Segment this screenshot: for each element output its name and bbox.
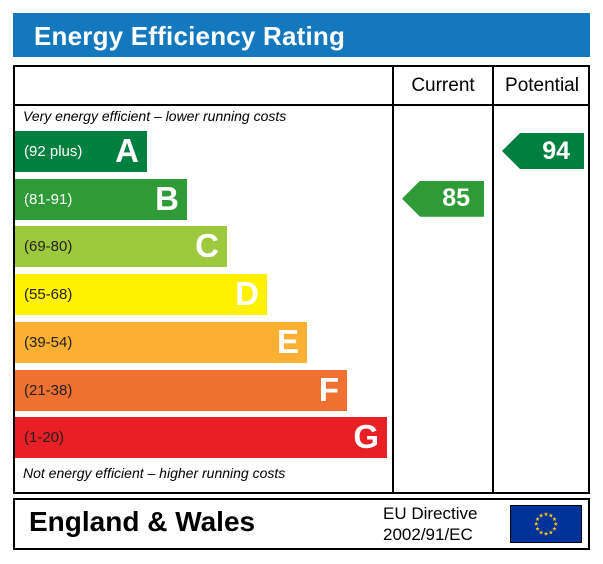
band-letter-f: F xyxy=(319,370,339,411)
caption-very-efficient: Very energy efficient – lower running co… xyxy=(23,108,286,124)
potential-rating-arrow: 94 xyxy=(502,133,584,169)
band-letter-c: C xyxy=(195,226,219,267)
title-bar: Energy Efficiency Rating xyxy=(13,13,590,57)
eu-star xyxy=(539,530,543,534)
current-rating-value: 85 xyxy=(442,184,470,213)
column-header-current: Current xyxy=(394,73,492,99)
band-row-c: (69-80)C xyxy=(15,226,227,267)
band-range-d: (55-68) xyxy=(24,274,72,315)
band-range-a: (92 plus) xyxy=(24,131,82,172)
band-range-c: (69-80) xyxy=(24,226,72,267)
eu-directive-label: EU Directive 2002/91/EC xyxy=(383,503,507,545)
eu-flag-stars xyxy=(511,506,581,542)
eu-flag-icon xyxy=(510,505,582,543)
rating-chart: Current Potential Very energy efficient … xyxy=(13,65,590,494)
eu-directive-line-2: 2002/91/EC xyxy=(383,524,507,545)
band-row-a: (92 plus)A xyxy=(15,131,147,172)
eu-star xyxy=(544,531,548,535)
band-range-b: (81-91) xyxy=(24,179,72,220)
band-row-b: (81-91)B xyxy=(15,179,187,220)
band-row-e: (39-54)E xyxy=(15,322,307,363)
band-letter-a: A xyxy=(115,131,139,172)
band-letter-b: B xyxy=(155,179,179,220)
column-header-potential: Potential xyxy=(494,73,590,99)
eu-star xyxy=(534,522,538,526)
eu-star xyxy=(535,517,539,521)
band-row-f: (21-38)F xyxy=(15,370,347,411)
eu-star xyxy=(554,522,558,526)
column-divider-potential xyxy=(492,67,494,492)
eu-star xyxy=(549,530,553,534)
region-label: England & Wales xyxy=(29,506,255,538)
band-range-f: (21-38) xyxy=(24,370,72,411)
header-row-divider xyxy=(15,104,588,106)
column-divider-current xyxy=(392,67,394,492)
page-title: Energy Efficiency Rating xyxy=(34,21,345,52)
caption-not-efficient: Not energy efficient – higher running co… xyxy=(23,465,285,481)
band-letter-d: D xyxy=(235,274,259,315)
eu-star xyxy=(535,527,539,531)
band-letter-g: G xyxy=(353,417,379,458)
certificate-footer: England & Wales EU Directive 2002/91/EC xyxy=(13,498,590,550)
eu-star xyxy=(549,513,553,517)
current-rating-arrow: 85 xyxy=(402,181,484,217)
eu-star xyxy=(552,517,556,521)
band-range-e: (39-54) xyxy=(24,322,72,363)
band-row-g: (1-20)G xyxy=(15,417,387,458)
band-range-g: (1-20) xyxy=(24,417,64,458)
band-list: (92 plus)A(81-91)B(69-80)C(55-68)D(39-54… xyxy=(15,128,390,462)
eu-star xyxy=(552,527,556,531)
energy-efficiency-certificate: Energy Efficiency Rating Current Potenti… xyxy=(0,0,603,564)
eu-star xyxy=(544,512,548,516)
band-row-d: (55-68)D xyxy=(15,274,267,315)
band-letter-e: E xyxy=(277,322,299,363)
eu-star xyxy=(539,513,543,517)
eu-directive-line-1: EU Directive xyxy=(383,503,507,524)
potential-rating-value: 94 xyxy=(542,137,570,166)
